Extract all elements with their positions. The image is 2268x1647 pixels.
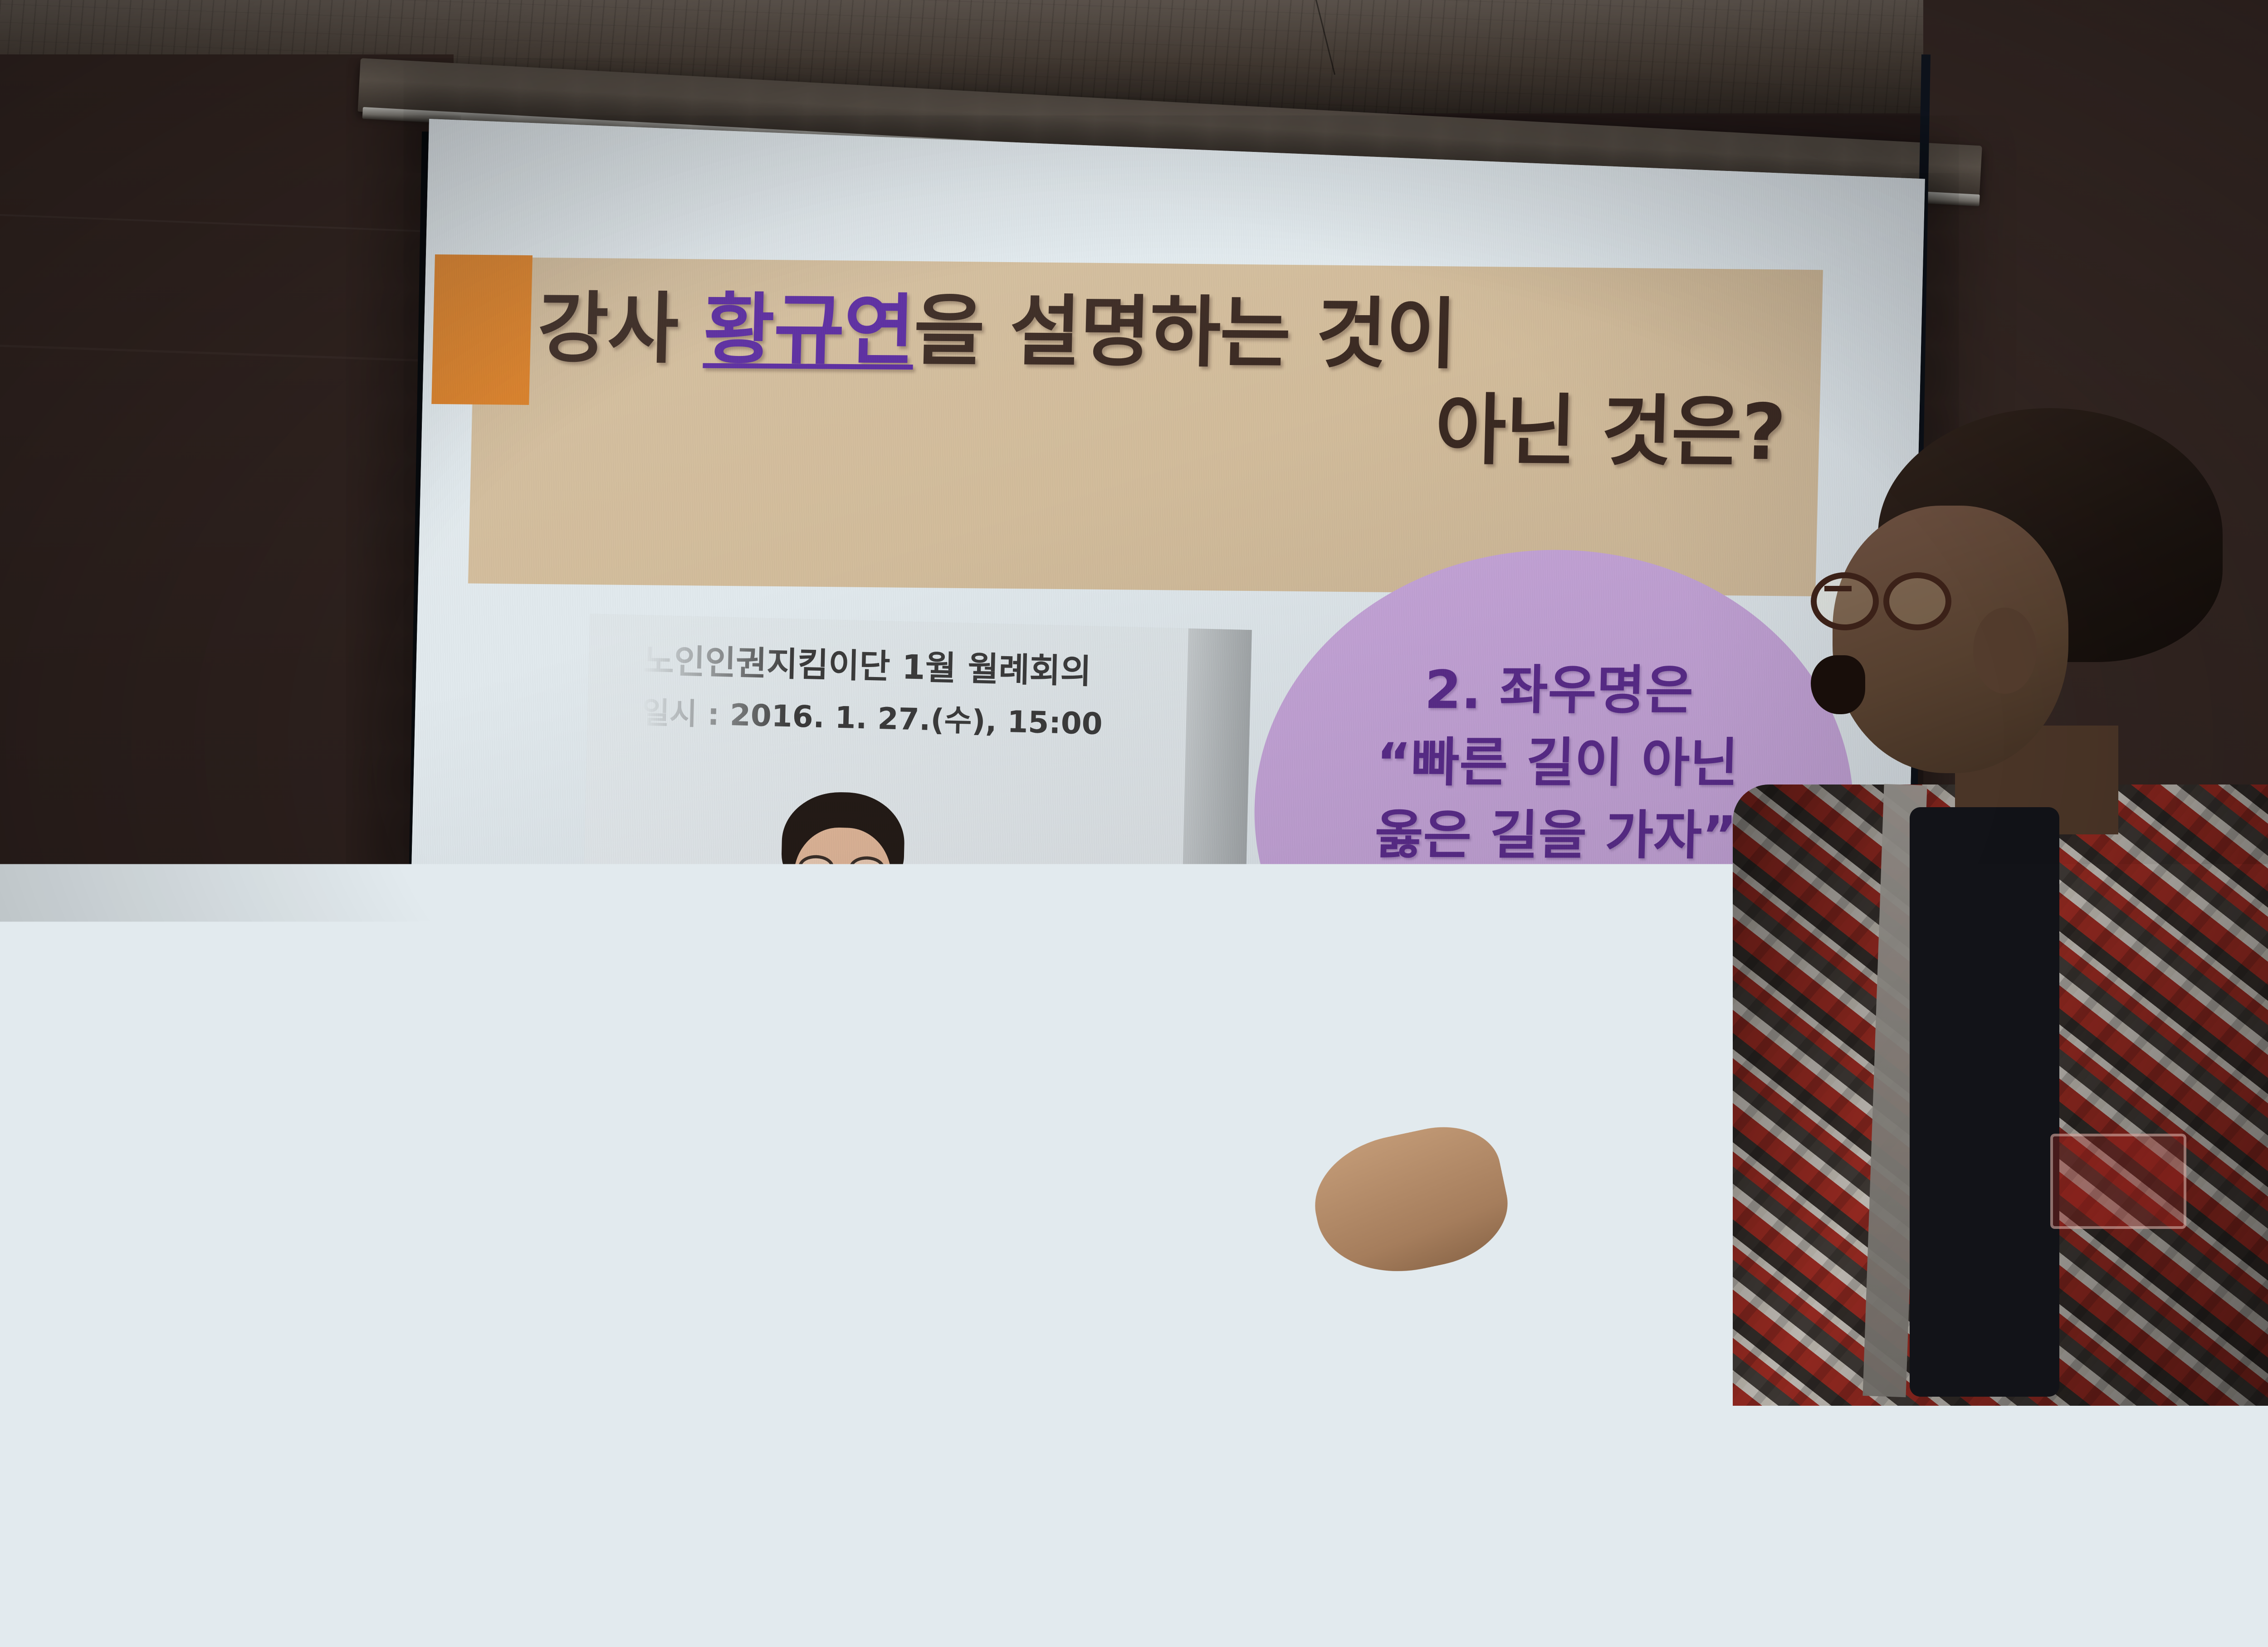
photo-speaker: [721, 789, 964, 1122]
power-cable-1: [0, 1424, 36, 1637]
presenter-mouth: [1811, 655, 1865, 714]
presenter-fingers: [1025, 959, 1102, 1027]
presenter-glasses-icon: [1811, 568, 1960, 636]
photo-name-badge: [858, 1017, 890, 1072]
slide-title-prefix: 강사: [537, 283, 705, 374]
slide-title: 강사 황규연을 설명하는 것이 아닌 것은?: [534, 281, 1832, 481]
slide-title-highlight-name: 황규연: [703, 285, 915, 376]
audience-ear: [1914, 1297, 1982, 1388]
presenter-ear: [1973, 608, 2037, 694]
slide-option-1-line-1: 1.동대문노인종합복지관: [494, 1158, 1072, 1227]
slide-title-line-2: 아닌 것은?: [534, 376, 1829, 481]
audience-member-front-left: [1488, 1113, 1950, 1647]
photo-lanyard: [868, 984, 874, 1020]
title-accent-square: [431, 254, 533, 405]
wall-seam-lower: [0, 345, 462, 363]
photo-caption: 노인인권지킴이단 1월 월례회의 일시 : 2016. 1. 27.(수), 1…: [641, 633, 1251, 753]
photo-speaker-glasses-icon: [798, 855, 885, 881]
slide-option-2-line-1: 2. 좌우명은: [1293, 654, 1825, 727]
room-scene: 강사 황규연을 설명하는 것이 아닌 것은? 노인인권지킴이단 1월 월례회의 …: [0, 0, 2268, 1647]
slide-title-suffix: 을 설명하는 것이: [913, 286, 1457, 380]
audience-hair-texture: [1488, 1113, 1950, 1647]
slide-title-line-1: 강사 황규연을 설명하는 것이: [537, 281, 1832, 385]
presenter-glasses-bridge: [1824, 586, 1852, 591]
audience-pink-shirt: [1928, 1483, 2268, 1647]
wall-seam-upper: [0, 214, 462, 234]
